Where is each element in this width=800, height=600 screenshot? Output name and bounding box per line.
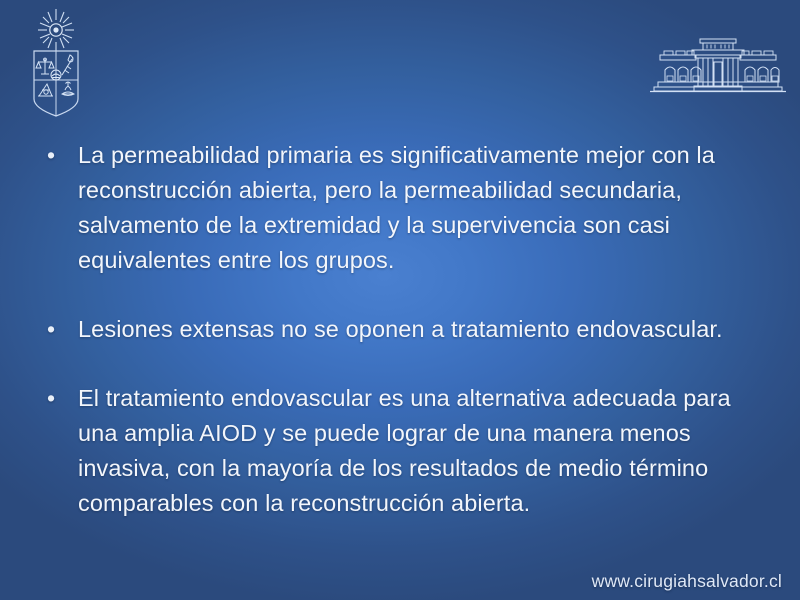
footer-website-url: www.cirugiahsalvador.cl — [592, 571, 782, 592]
bullet-text: La permeabilidad primaria es significati… — [78, 138, 760, 278]
bullet-marker-icon: • — [44, 312, 78, 347]
slide-body: • La permeabilidad primaria es significa… — [44, 138, 760, 521]
bullet-text: El tratamiento endovascular es una alter… — [78, 381, 760, 521]
bullet-marker-icon: • — [44, 138, 78, 173]
presentation-slide: • La permeabilidad primaria es significa… — [0, 0, 800, 600]
bullet-item: • El tratamiento endovascular es una alt… — [44, 381, 760, 521]
universidad-de-chile-logo — [24, 4, 88, 118]
bullet-item: • Lesiones extensas no se oponen a trata… — [44, 312, 760, 347]
bullet-text: Lesiones extensas no se oponen a tratami… — [78, 312, 760, 347]
hospital-building-emblem — [648, 36, 788, 100]
bullet-marker-icon: • — [44, 381, 78, 416]
bullet-item: • La permeabilidad primaria es significa… — [44, 138, 760, 278]
